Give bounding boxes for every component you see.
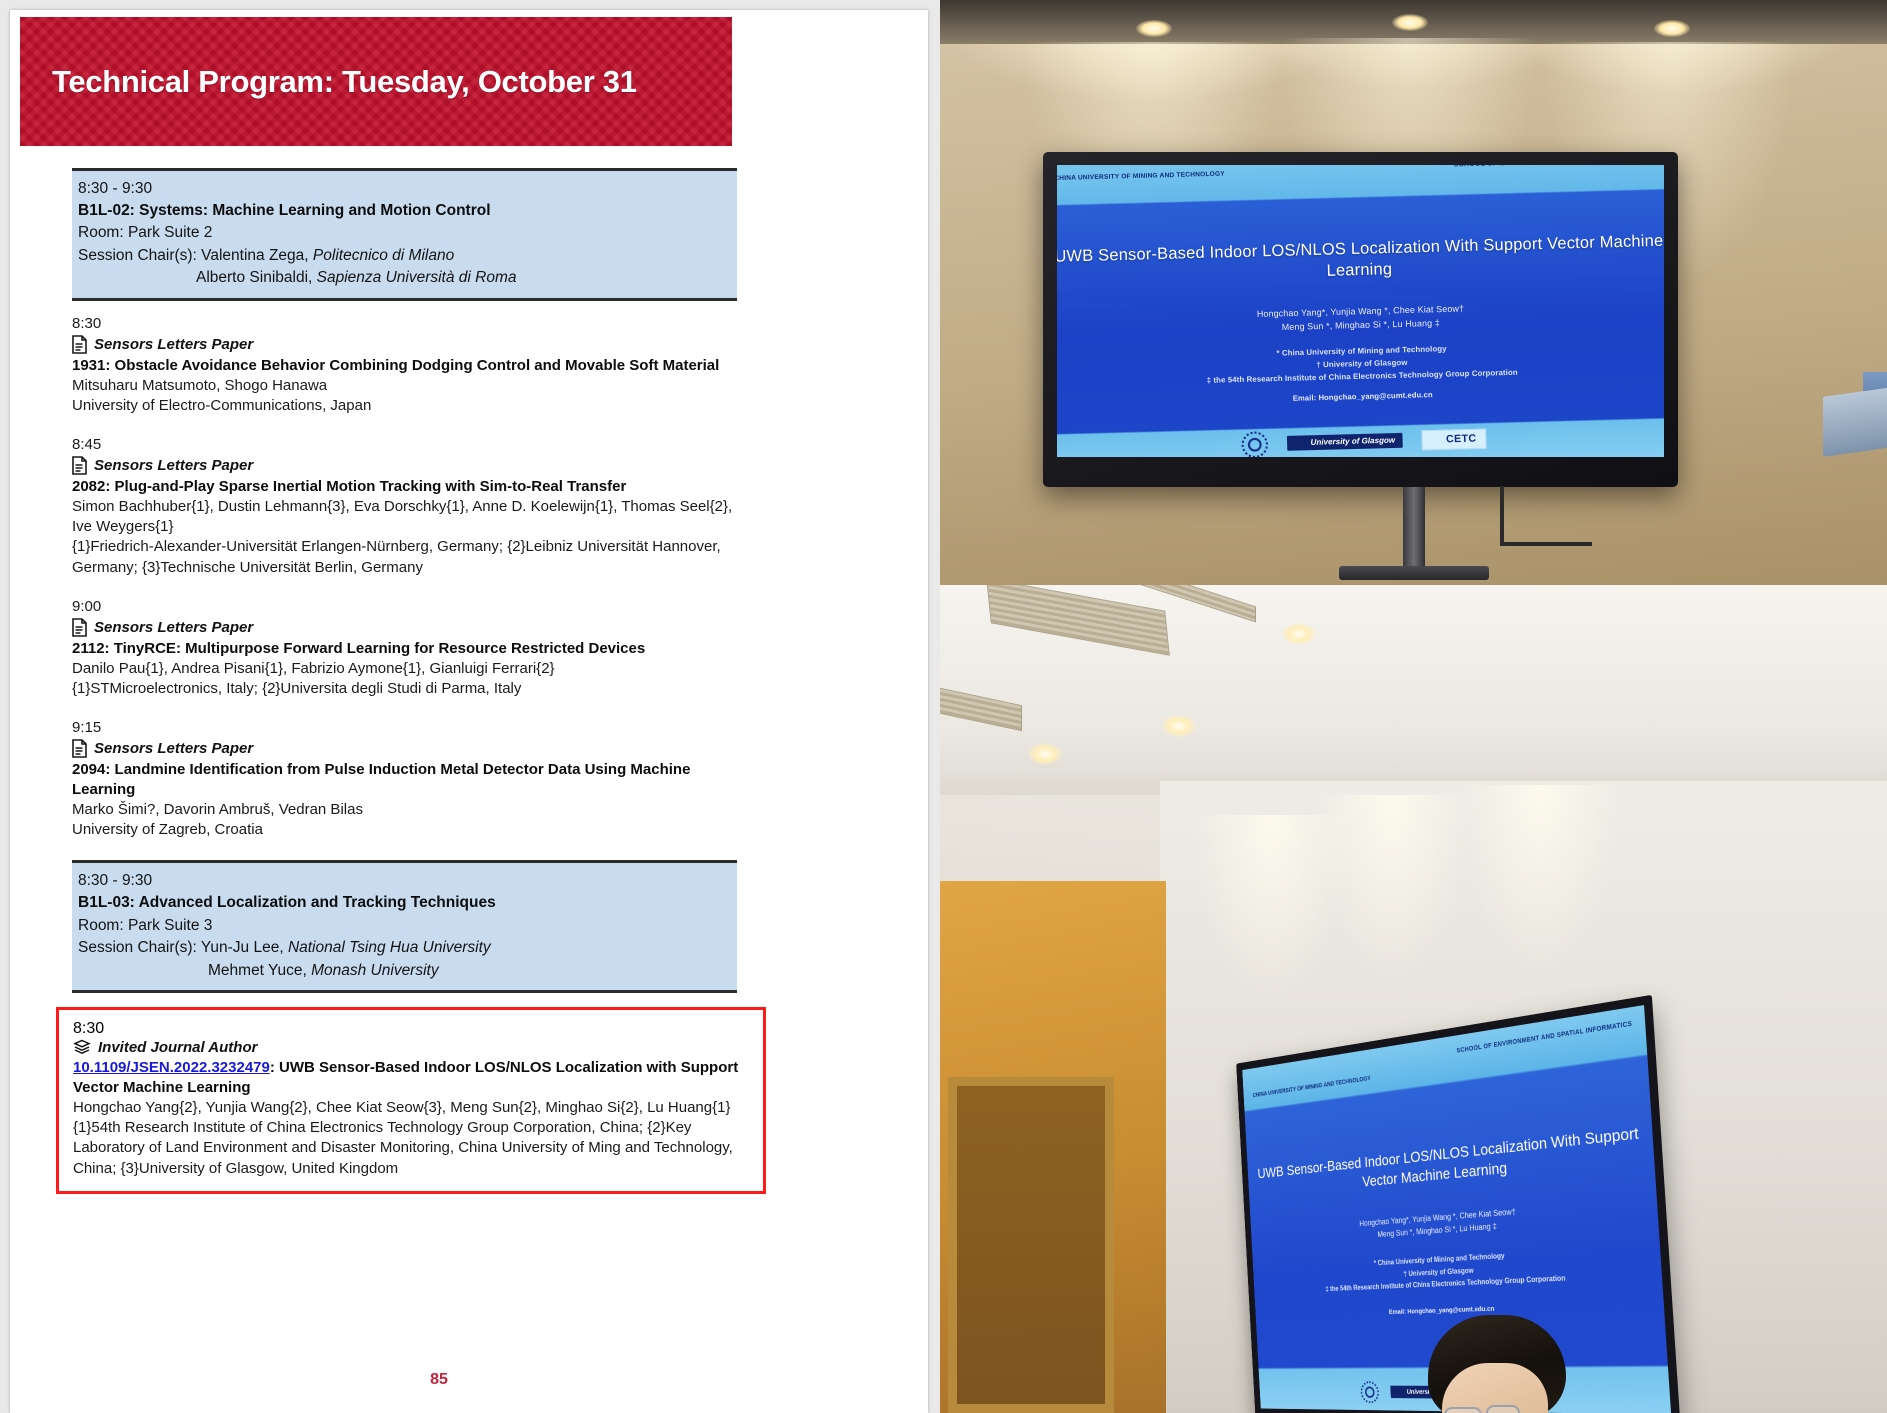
paper-type-label: Sensors Letters Paper (94, 336, 253, 353)
session-time: 8:30 - 9:30 (78, 870, 727, 892)
tv-stand-pole (1403, 487, 1425, 573)
paper-title-row: 10.1109/JSEN.2022.3232479: UWB Sensor-Ba… (73, 1058, 753, 1098)
chair-name-1: Session Chair(s): Valentina Zega, (78, 247, 313, 264)
photo-presenter: CHINA UNIVERSITY OF MINING AND TECHNOLOG… (940, 585, 1887, 1413)
presenter-figure (1376, 1315, 1676, 1413)
downlight-icon (1136, 20, 1172, 37)
chair-name-1: Session Chair(s): Yun-Ju Lee, (78, 939, 288, 956)
chair-affiliation-2: Monash University (311, 962, 439, 979)
downlight-icon (1162, 715, 1196, 737)
slide-authors: Hongchao Yang*, Yunjia Wang *, Chee Kiat… (1057, 296, 1664, 340)
chair-name-2: Mehmet Yuce, (208, 962, 311, 979)
paper-type-label: Sensors Letters Paper (94, 619, 253, 636)
paper-title: 2112: TinyRCE: Multipurpose Forward Lear… (72, 639, 752, 659)
paper-time: 8:30 (73, 1020, 753, 1038)
paper-authors: Simon Bachhuber{1}, Dustin Lehmann{3}, E… (72, 497, 752, 538)
chair-name-2: Alberto Sinibaldi, (196, 269, 317, 286)
paper-affiliations: University of Zagreb, Croatia (72, 820, 752, 840)
tv-stand-base (1339, 566, 1489, 580)
session-chair-line-2: Alberto Sinibaldi, Sapienza Università d… (78, 267, 727, 289)
paper-authors: Marko Šimi?, Davorin Ambruš, Vedran Bila… (72, 800, 752, 820)
cable (1500, 542, 1592, 546)
presentation-slide: CHINA UNIVERSITY OF MINING AND TECHNOLOG… (1057, 165, 1664, 457)
paper-affiliations: {1}STMicroelectronics, Italy; {2}Univers… (72, 679, 752, 699)
university-of-glasgow-logo: University of Glasgow (1287, 433, 1403, 451)
paper-type-row: Sensors Letters Paper (72, 739, 752, 758)
program-document-pane: Technical Program: Tuesday, October 31 8… (0, 0, 940, 1413)
document-icon (72, 739, 87, 758)
paper-entry: 9:15 Sensors Letters Paper 2094: Landmin… (72, 719, 752, 840)
program-banner: Technical Program: Tuesday, October 31 (20, 17, 732, 146)
paper-type-label: Sensors Letters Paper (94, 740, 253, 757)
wall-glow (1460, 785, 1620, 975)
downlight-icon (1392, 14, 1428, 31)
paper-affiliations: University of Electro-Communications, Ja… (72, 396, 752, 416)
paper-time: 8:30 (72, 315, 752, 332)
slide-logo-left: CHINA UNIVERSITY OF MINING AND TECHNOLOG… (1253, 1076, 1371, 1100)
document-icon (72, 335, 87, 354)
door-frame (948, 1077, 1114, 1413)
program-page-sheet: Technical Program: Tuesday, October 31 8… (10, 10, 928, 1413)
session-room: Room: Park Suite 2 (78, 222, 727, 244)
paper-type-row: Sensors Letters Paper (72, 456, 752, 475)
tv-screen: CHINA UNIVERSITY OF MINING AND TECHNOLOG… (1057, 165, 1664, 457)
page-title: Technical Program: Tuesday, October 31 (20, 64, 637, 100)
paper-time: 8:45 (72, 436, 752, 453)
paper-entry: 9:00 Sensors Letters Paper 2112: TinyRCE… (72, 598, 752, 699)
slide-header-band: CHINA UNIVERSITY OF MINING AND TECHNOLOG… (1057, 165, 1664, 199)
book-stack-icon (73, 1038, 91, 1056)
slide-title: UWB Sensor-Based Indoor LOS/NLOS Localiz… (1057, 231, 1664, 290)
slide-logo-right: SCHOOL OF ENVIRONMENT AND SPATIAL INFORM… (1454, 165, 1657, 169)
university-seal-icon (1241, 431, 1268, 457)
side-shelf (1823, 387, 1887, 457)
paper-time: 9:15 (72, 719, 752, 736)
paper-type-row: Sensors Letters Paper (72, 618, 752, 637)
paper-affiliations: {1}54th Research Institute of China Elec… (73, 1118, 753, 1179)
slide-affiliations: * China University of Mining and Technol… (1253, 1240, 1662, 1298)
paper-title: 2082: Plug-and-Play Sparse Inertial Moti… (72, 477, 752, 497)
slide-logo-strip: University of Glasgow CETC (1057, 417, 1664, 457)
downlight-icon (1654, 20, 1690, 37)
highlighted-paper-box: 8:30 Invited Journal Author 10.1109/JSEN… (56, 1007, 766, 1194)
doi-link[interactable]: 10.1109/JSEN.2022.3232479 (73, 1059, 270, 1076)
session-title: B1L-02: Systems: Machine Learning and Mo… (78, 200, 727, 222)
paper-type-label: Sensors Letters Paper (94, 457, 253, 474)
chair-affiliation-2: Sapienza Università di Roma (317, 269, 517, 286)
chair-affiliation-1: Politecnico di Milano (313, 247, 454, 264)
eyeglasses-icon (1486, 1405, 1520, 1413)
paper-time: 9:00 (72, 598, 752, 615)
session-time: 8:30 - 9:30 (78, 178, 727, 200)
paper-type-label: Invited Journal Author (98, 1039, 257, 1056)
paper-title: 2094: Landmine Identification from Pulse… (72, 760, 752, 800)
document-icon (72, 456, 87, 475)
session-room: Room: Park Suite 3 (78, 915, 727, 937)
eyeglasses-icon (1444, 1407, 1482, 1413)
wall-glow (1312, 795, 1472, 985)
paper-type-row: Invited Journal Author (73, 1038, 753, 1056)
session-title: B1L-03: Advanced Localization and Tracki… (78, 892, 727, 914)
slide-affiliations: * China University of Mining and Technol… (1057, 336, 1664, 391)
photo-tv-display: CHINA UNIVERSITY OF MINING AND TECHNOLOG… (940, 0, 1887, 585)
paper-title: 1931: Obstacle Avoidance Behavior Combin… (72, 356, 752, 376)
slide-authors: Hongchao Yang*, Yunjia Wang *, Chee Kiat… (1251, 1195, 1659, 1250)
program-content: 8:30 - 9:30 B1L-02: Systems: Machine Lea… (10, 146, 928, 1194)
session-chair-line-2: Mehmet Yuce, Monash University (78, 960, 727, 982)
chair-affiliation-1: National Tsing Hua University (288, 939, 491, 956)
slide-title: UWB Sensor-Based Indoor LOS/NLOS Localiz… (1248, 1121, 1655, 1202)
slide-logo-right: SCHOOL OF ENVIRONMENT AND SPATIAL INFORM… (1456, 1021, 1632, 1055)
downlight-icon (1028, 743, 1062, 765)
session-chair-line-1: Session Chair(s): Valentina Zega, Polite… (78, 245, 727, 267)
cetc-logo: CETC (1421, 428, 1486, 450)
paper-authors: Danilo Pau{1}, Andrea Pisani{1}, Fabrizi… (72, 659, 752, 679)
downlight-icon (1282, 623, 1316, 645)
session-header-b1l-02: 8:30 - 9:30 B1L-02: Systems: Machine Lea… (72, 168, 737, 301)
paper-type-row: Sensors Letters Paper (72, 335, 752, 354)
paper-affiliations: {1}Friedrich-Alexander-Universität Erlan… (72, 537, 752, 578)
cable (1500, 486, 1504, 546)
paper-entry: 8:45 Sensors Letters Paper 2082: Plug-an… (72, 436, 752, 578)
paper-entry: 8:30 Sensors Letters Paper 1931: Obstacl… (72, 315, 752, 416)
page-number: 85 (10, 1371, 928, 1389)
tv-bezel: CHINA UNIVERSITY OF MINING AND TECHNOLOG… (1043, 152, 1678, 487)
document-icon (72, 618, 87, 637)
doi-separator: : (270, 1059, 279, 1076)
slide-logo-left: CHINA UNIVERSITY OF MINING AND TECHNOLOG… (1057, 170, 1225, 183)
session-header-b1l-03: 8:30 - 9:30 B1L-03: Advanced Localizatio… (72, 860, 737, 993)
screenshot-root: Technical Program: Tuesday, October 31 8… (0, 0, 1887, 1413)
paper-authors: Hongchao Yang{2}, Yunjia Wang{2}, Chee K… (73, 1098, 753, 1118)
session-chair-line-1: Session Chair(s): Yun-Ju Lee, National T… (78, 937, 727, 959)
photo-pane: CHINA UNIVERSITY OF MINING AND TECHNOLOG… (940, 0, 1887, 1413)
paper-authors: Mitsuharu Matsumoto, Shogo Hanawa (72, 376, 752, 396)
